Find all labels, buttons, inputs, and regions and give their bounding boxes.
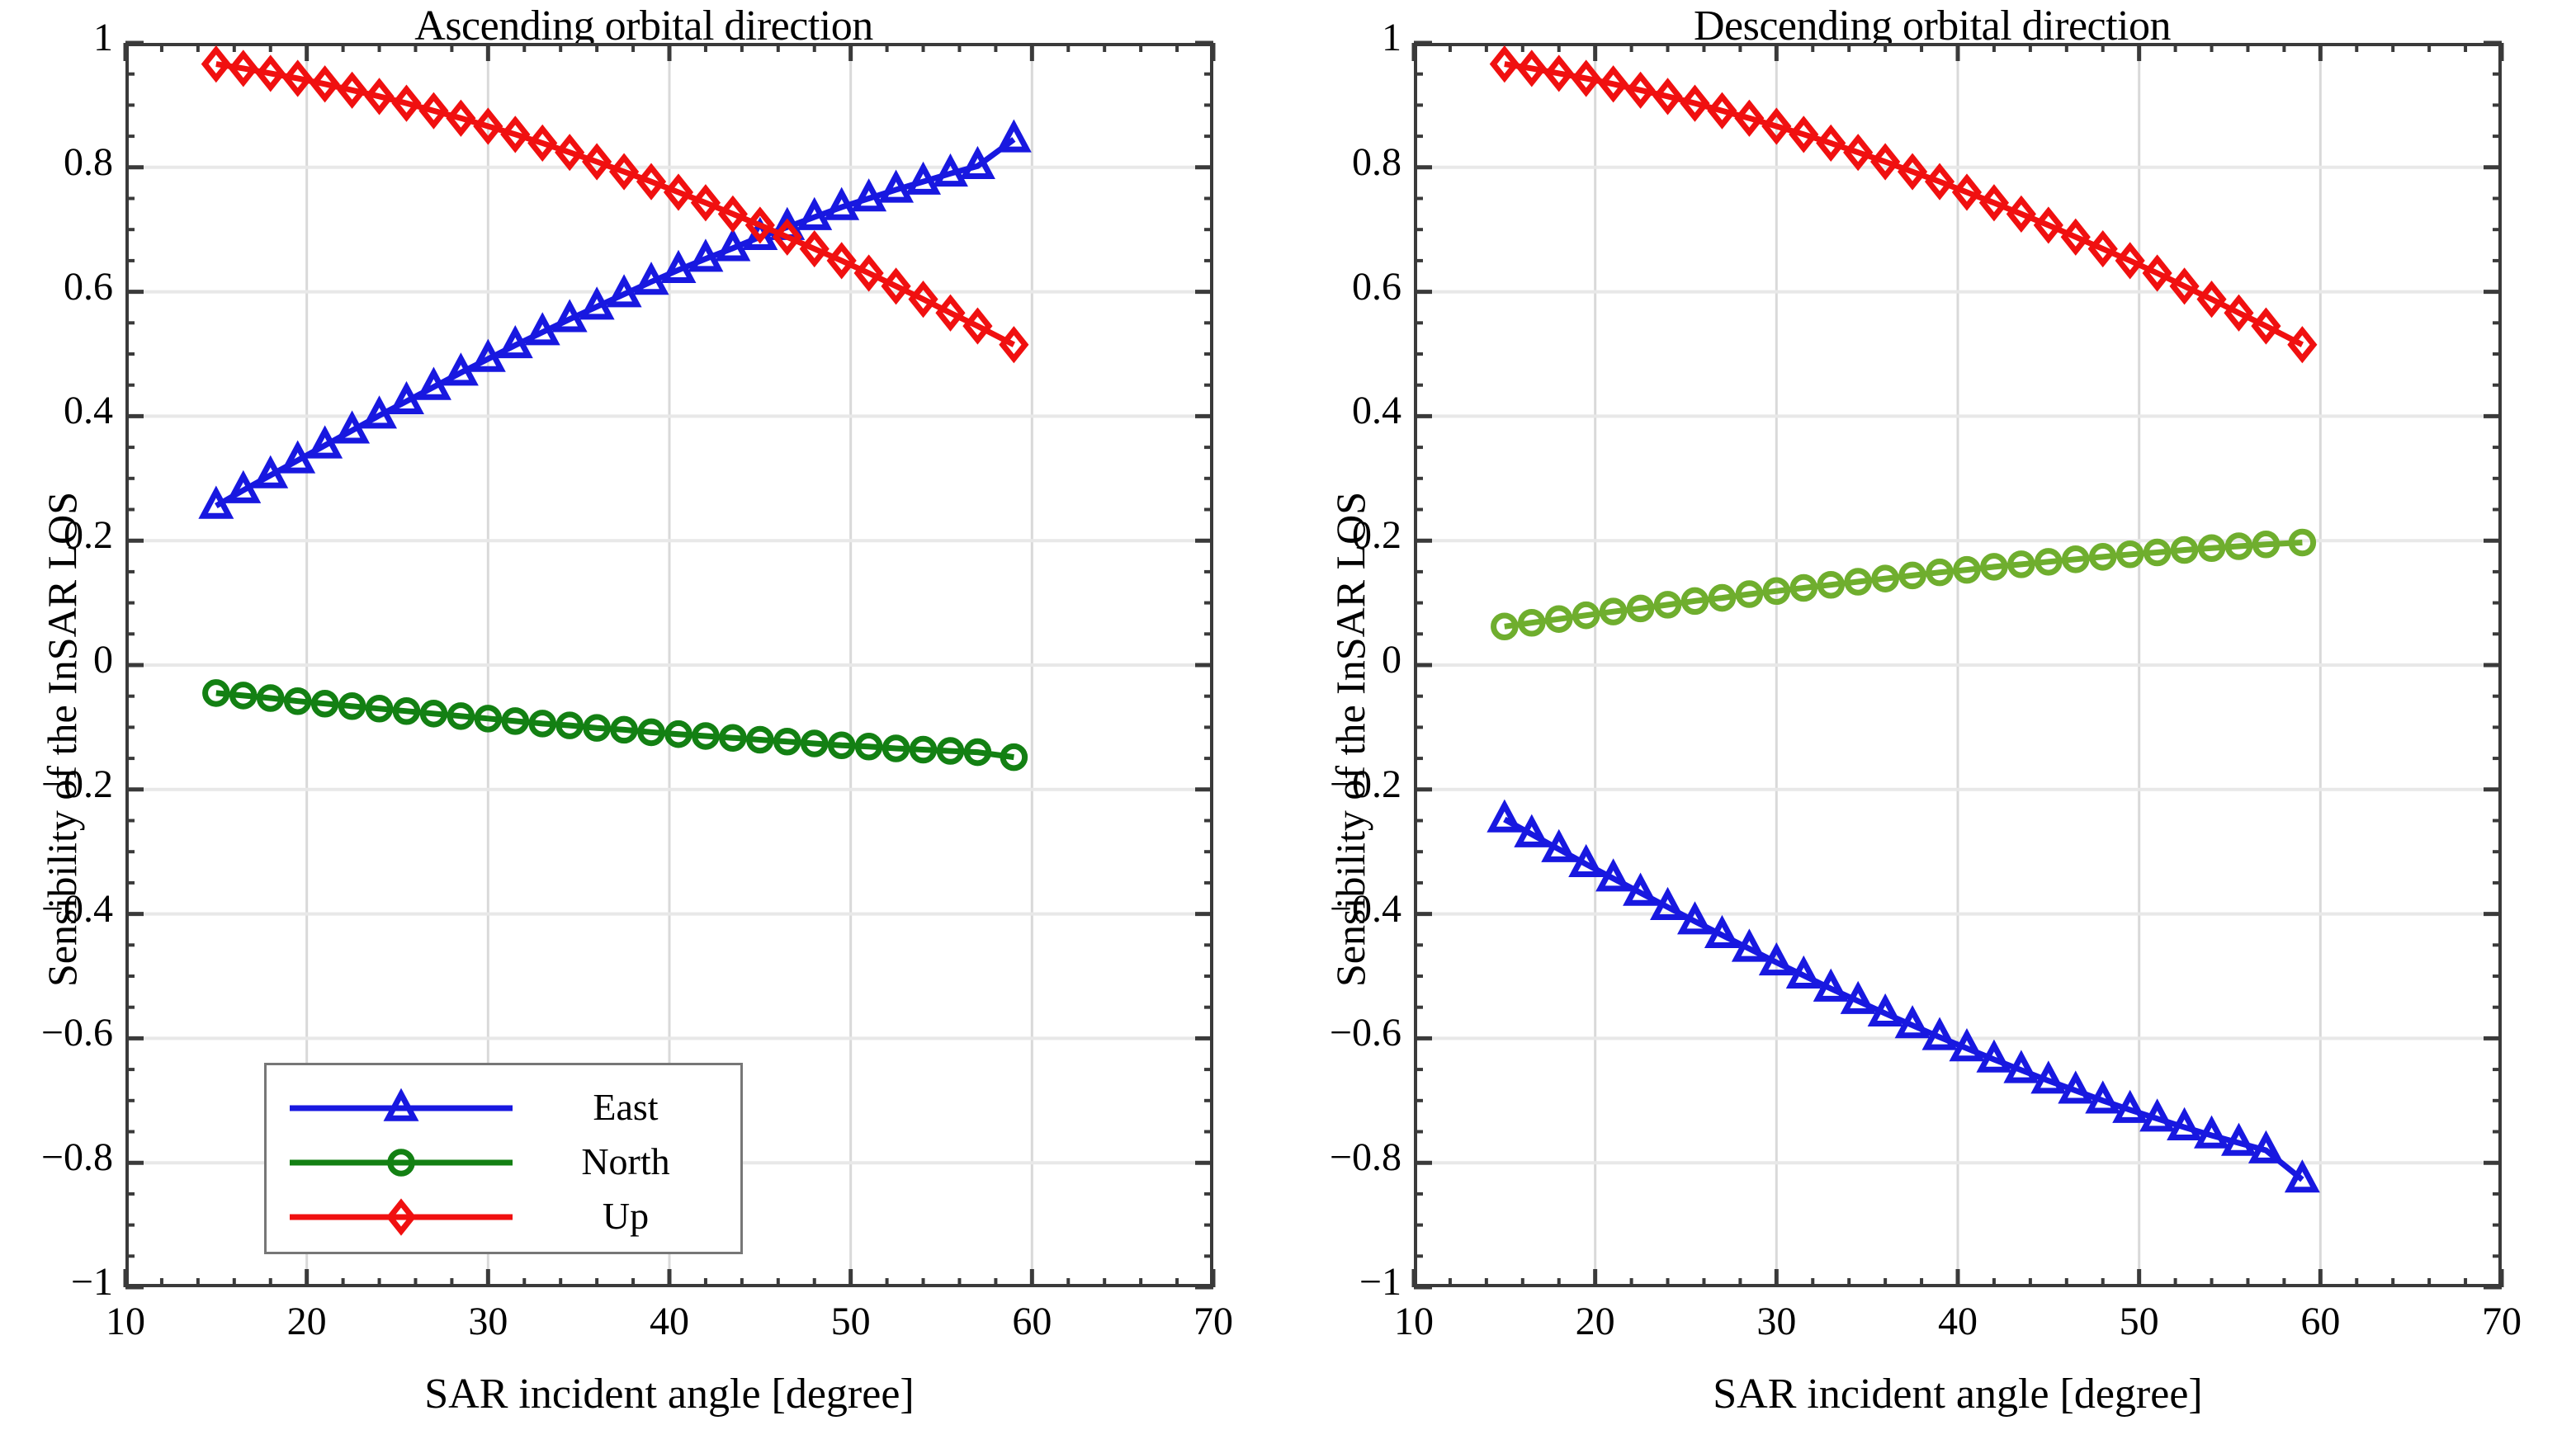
plot-svg-descending <box>1288 0 2576 1444</box>
x-tick-label: 10 <box>76 1299 175 1344</box>
x-tick-label: 20 <box>258 1299 357 1344</box>
x-tick-label: 10 <box>1364 1299 1463 1344</box>
legend-marker-circle-icon <box>281 1138 529 1187</box>
y-tick-label: 1 <box>0 15 113 60</box>
y-tick-label: −1 <box>0 1259 113 1305</box>
y-tick-label: 0.4 <box>0 388 113 433</box>
y-axis-label-descending: Sensibility of the InSAR LOS <box>1326 492 1374 987</box>
legend-label: Up <box>531 1194 721 1238</box>
y-tick-label: −0.6 <box>1236 1010 1401 1055</box>
x-tick-label: 20 <box>1546 1299 1645 1344</box>
y-tick-label: 0 <box>1236 637 1401 682</box>
y-tick-label: −1 <box>1236 1259 1401 1305</box>
legend-label: North <box>531 1140 721 1183</box>
x-axis-label-ascending: SAR incident angle [degree] <box>125 1370 1213 1418</box>
legend-ascending: EastNorthUp <box>264 1063 743 1254</box>
legend-item-north: North <box>267 1138 740 1187</box>
legend-marker-diamond-icon <box>281 1192 529 1242</box>
y-tick-label: −0.4 <box>1236 886 1401 932</box>
y-tick-label: −0.6 <box>0 1010 113 1055</box>
y-tick-label: −0.2 <box>1236 762 1401 807</box>
x-tick-label: 30 <box>438 1299 537 1344</box>
panel-ascending: Ascending orbital direction 102030405060… <box>0 0 1288 1444</box>
x-tick-label: 40 <box>620 1299 719 1344</box>
y-tick-label: 1 <box>1236 15 1401 60</box>
y-tick-label: 0.4 <box>1236 388 1401 433</box>
x-tick-label: 70 <box>1164 1299 1263 1344</box>
legend-marker-triangle-icon <box>281 1083 529 1133</box>
y-tick-label: −0.8 <box>1236 1135 1401 1180</box>
x-tick-label: 70 <box>2452 1299 2551 1344</box>
y-tick-label: 0.6 <box>0 264 113 309</box>
y-tick-label: 0.6 <box>1236 264 1401 309</box>
figure-root: Ascending orbital direction 102030405060… <box>0 0 2576 1444</box>
y-tick-label: 0.8 <box>1236 139 1401 185</box>
y-tick-label: 0.2 <box>1236 512 1401 558</box>
y-tick-label: −0.8 <box>0 1135 113 1180</box>
legend-item-east: East <box>267 1083 740 1133</box>
x-tick-label: 50 <box>2090 1299 2189 1344</box>
x-tick-label: 40 <box>1908 1299 2007 1344</box>
x-tick-label: 60 <box>2271 1299 2370 1344</box>
x-tick-label: 30 <box>1727 1299 1826 1344</box>
x-tick-label: 50 <box>801 1299 900 1344</box>
x-axis-label-descending: SAR incident angle [degree] <box>1414 1370 2502 1418</box>
x-tick-label: 60 <box>982 1299 1081 1344</box>
y-tick-label: 0.8 <box>0 139 113 185</box>
legend-label: East <box>531 1085 721 1129</box>
y-axis-label-ascending: Sensibility of the InSAR LOS <box>38 492 86 987</box>
panel-descending: Descending orbital direction 10203040506… <box>1288 0 2576 1444</box>
legend-item-up: Up <box>267 1192 740 1242</box>
